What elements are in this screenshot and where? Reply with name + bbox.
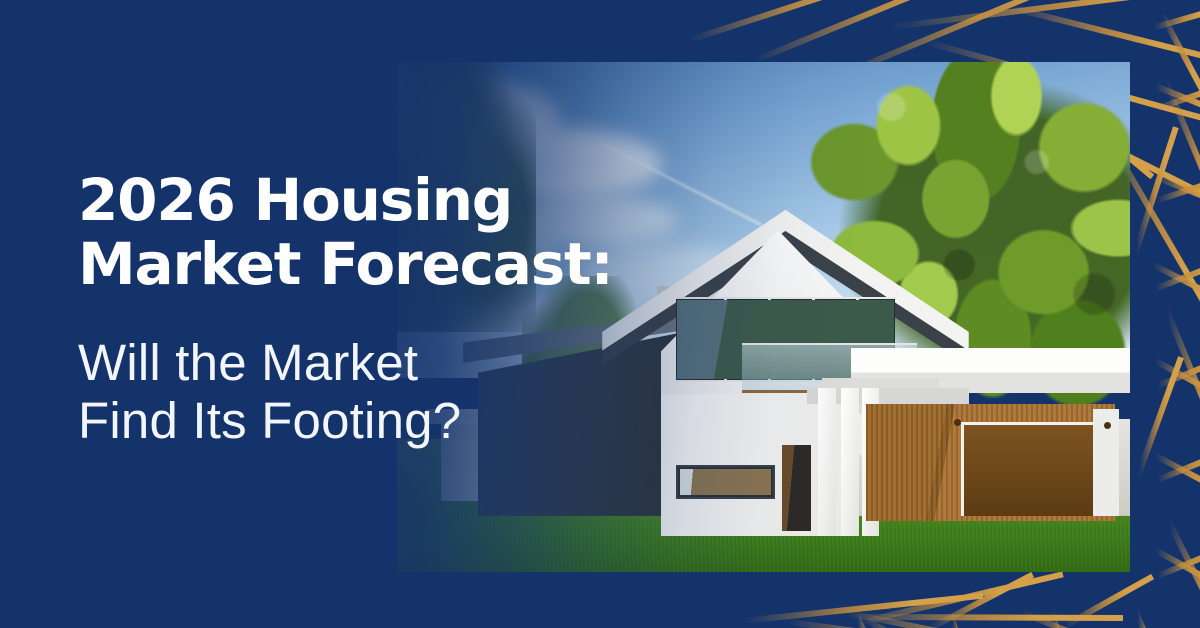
subtitle: Will the Market Find Its Footing? (78, 334, 698, 450)
housing-forecast-banner: 2026 Housing Market Forecast: Will the M… (0, 0, 1200, 628)
subtitle-line-1: Will the Market (78, 334, 698, 392)
subtitle-line-2: Find Its Footing? (78, 392, 698, 450)
page-title: 2026 Housing Market Forecast: (78, 168, 698, 296)
headline-line-1: 2026 Housing (78, 168, 698, 232)
headline-line-2: Market Forecast: (78, 232, 698, 296)
text-block: 2026 Housing Market Forecast: Will the M… (78, 168, 698, 450)
